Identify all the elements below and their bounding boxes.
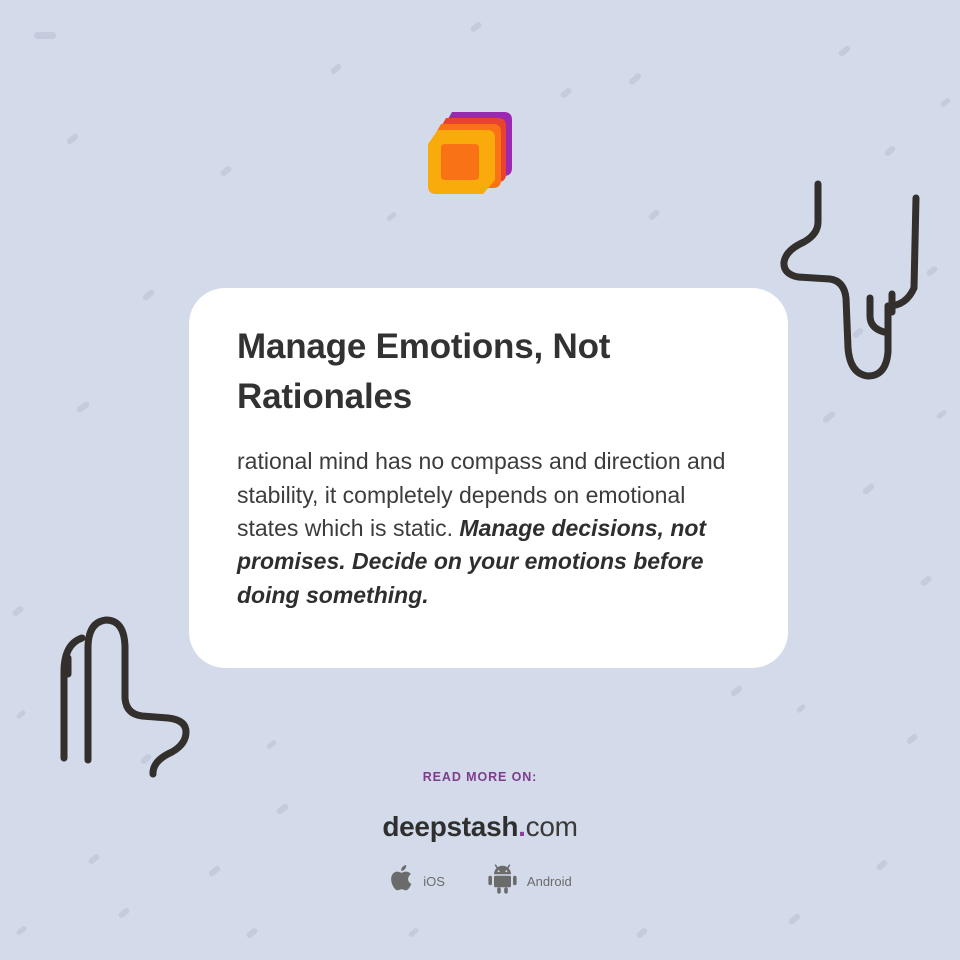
confetti-speck (730, 685, 744, 698)
confetti-speck (66, 133, 80, 146)
confetti-speck (117, 907, 130, 919)
confetti-speck (219, 165, 232, 177)
brand-wordmark[interactable]: deepstash.com (0, 811, 960, 843)
confetti-speck (862, 483, 876, 496)
brand-tld: com (526, 811, 578, 842)
confetti-speck (76, 401, 91, 414)
footer: READ MORE ON: deepstash.com iOS (0, 770, 960, 899)
brand-dot: . (518, 811, 525, 842)
confetti-speck (905, 733, 918, 745)
ios-label: iOS (423, 874, 445, 889)
confetti-speck (559, 87, 572, 99)
pointing-hand-illustration-bottom-left (26, 562, 206, 787)
confetti-speck (266, 739, 278, 750)
confetti-speck (822, 410, 837, 424)
confetti-speck (919, 575, 932, 587)
android-icon (487, 863, 518, 899)
confetti-speck (940, 97, 952, 108)
card-title: Manage Emotions, Not Rationales (237, 322, 744, 421)
confetti-speck (788, 913, 802, 926)
confetti-speck (142, 289, 156, 302)
confetti-speck (838, 45, 852, 58)
apple-icon (388, 863, 414, 899)
confetti-speck (469, 21, 482, 33)
confetti-speck (635, 927, 648, 939)
confetti-speck (628, 72, 642, 86)
confetti-speck (11, 605, 24, 617)
android-label: Android (527, 874, 572, 889)
confetti-speck (936, 409, 948, 420)
confetti-speck (408, 927, 420, 938)
confetti-speck (796, 703, 807, 713)
ios-badge[interactable]: iOS (388, 863, 445, 899)
quote-card: Manage Emotions, Not Rationales rational… (189, 288, 788, 668)
confetti-speck (16, 925, 28, 936)
confetti-speck (16, 709, 27, 719)
store-badges: iOS (0, 863, 960, 899)
confetti-speck (330, 63, 343, 75)
deepstash-logo (428, 104, 518, 198)
confetti-speck (34, 32, 56, 39)
confetti-speck (245, 927, 258, 939)
confetti-speck (883, 145, 896, 157)
confetti-speck (647, 209, 660, 221)
card-body: rational mind has no compass and directi… (237, 445, 744, 612)
read-more-label: READ MORE ON: (0, 770, 960, 784)
android-badge[interactable]: Android (487, 863, 572, 899)
confetti-speck (386, 211, 398, 222)
brand-name: deepstash (382, 811, 518, 842)
